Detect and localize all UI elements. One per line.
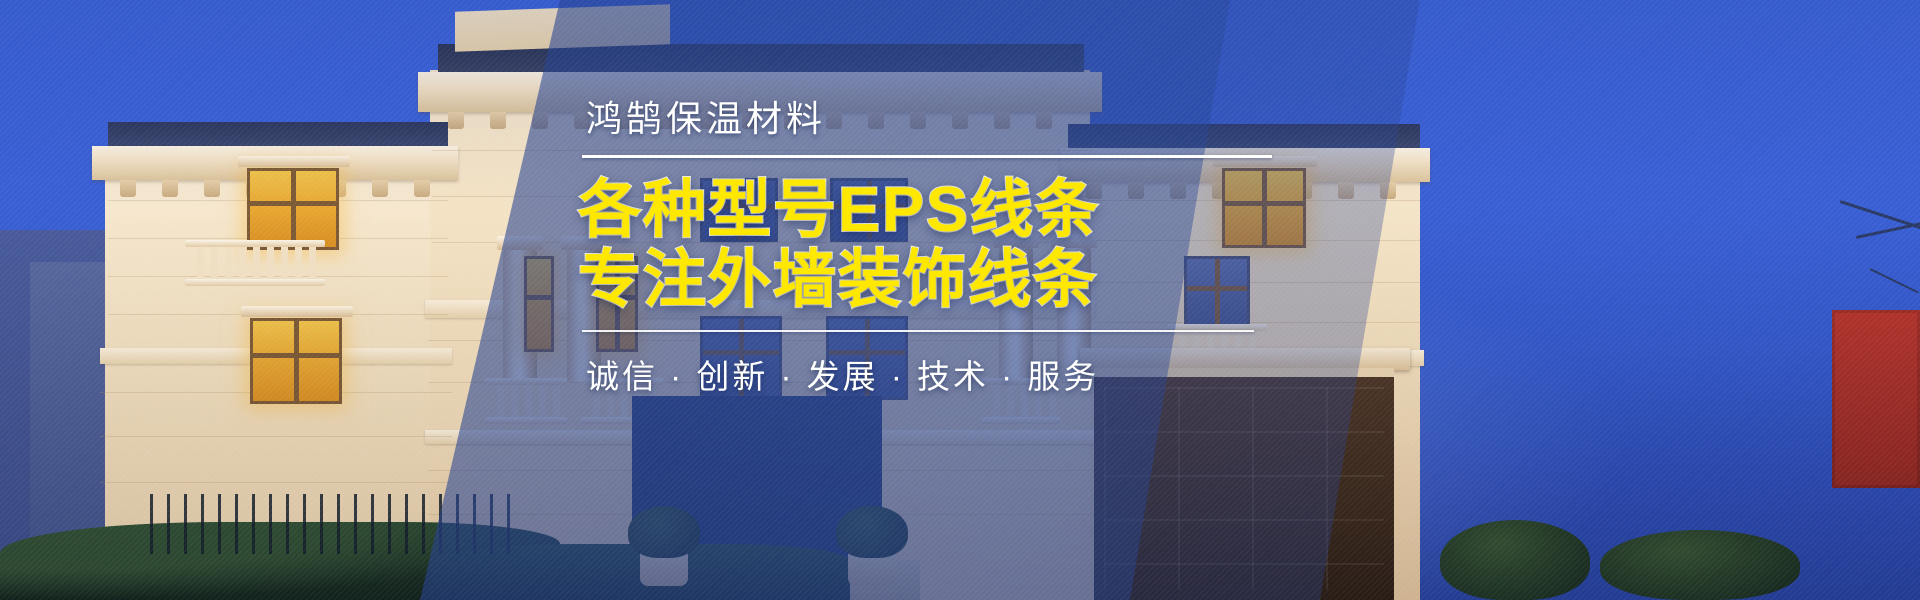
- column-capital: [497, 236, 543, 250]
- brand-name: 鸿鹄保温材料: [586, 96, 1300, 141]
- window-hood: [238, 156, 350, 167]
- divider-top: [582, 155, 1272, 158]
- banner-copy: 鸿鹄保温材料 各种型号EPS线条 专注外墙装饰线条 诚信 · 创新 · 发展 ·…: [560, 96, 1300, 398]
- window-glowing: [247, 168, 339, 250]
- balustrade: [490, 384, 562, 418]
- tagline: 诚信 · 创新 · 发展 · 技术 · 服务: [586, 350, 1300, 398]
- window-hood: [241, 306, 353, 317]
- promo-banner: 鸿鹄保温材料 各种型号EPS线条 专注外墙装饰线条 诚信 · 创新 · 发展 ·…: [0, 0, 1920, 600]
- shrub: [836, 506, 908, 558]
- shrub: [1600, 530, 1800, 600]
- shrub: [628, 506, 700, 558]
- fence-railing: [150, 494, 510, 554]
- headline-line-1: 各种型号EPS线条: [578, 176, 1300, 244]
- balustrade: [190, 246, 320, 280]
- window-glowing: [524, 256, 554, 352]
- shrub: [1440, 520, 1590, 600]
- divider-bottom: [582, 330, 1254, 332]
- red-container: [1832, 310, 1920, 488]
- garage-door: [1094, 368, 1394, 600]
- headline-line-2: 专注外墙装饰线条: [578, 246, 1300, 314]
- window-glowing: [250, 318, 342, 404]
